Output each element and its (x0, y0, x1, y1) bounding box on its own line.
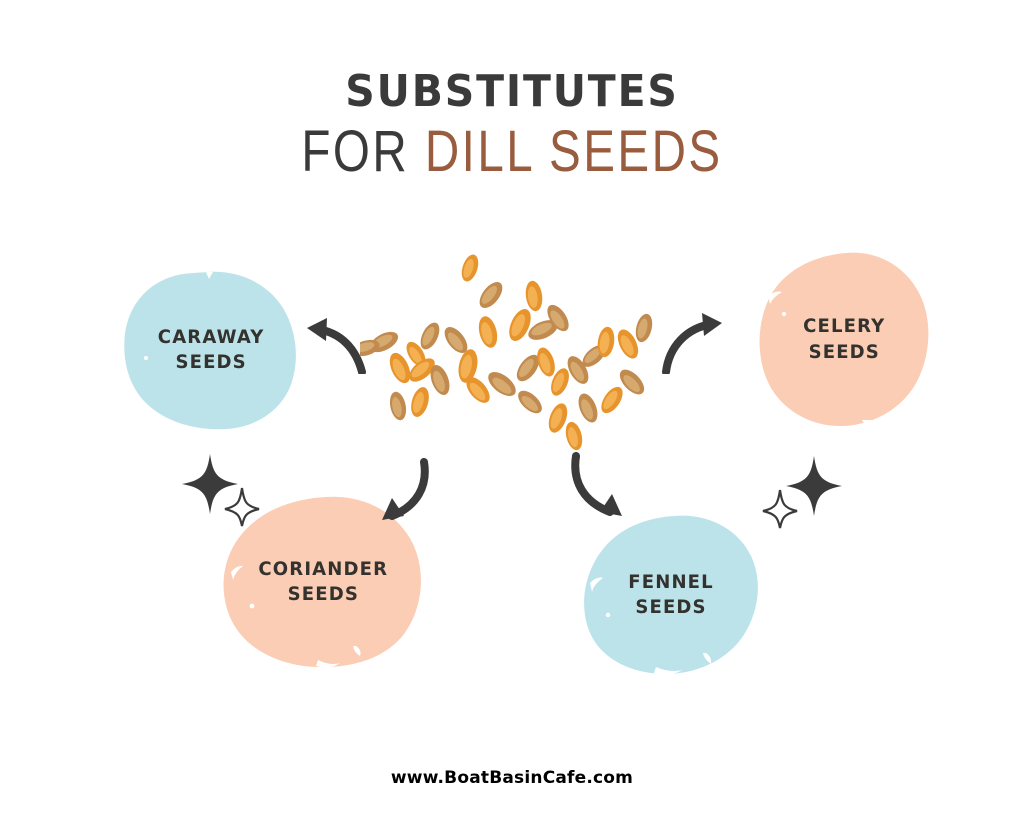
substitute-label-caraway: CARAWAY SEEDS (158, 325, 265, 375)
sparkles-right-icon (762, 452, 846, 530)
substitute-label-line1: CORIANDER (258, 558, 388, 580)
sparkle-filled-icon (786, 456, 842, 516)
arrow-right-icon (660, 312, 730, 374)
sparkles-left-icon (180, 452, 262, 528)
substitute-label-line2: SEEDS (287, 583, 358, 605)
substitute-label-line2: SEEDS (808, 341, 879, 363)
substitute-label-celery: CELERY SEEDS (803, 314, 885, 364)
substitute-label-line2: SEEDS (175, 351, 246, 373)
sparkle-outline-icon (763, 490, 797, 528)
substitute-label-line2: SEEDS (636, 596, 707, 618)
dill-seeds-graphic (360, 250, 670, 455)
substitute-blob-celery[interactable]: CELERY SEEDS (758, 252, 930, 427)
substitute-blob-fennel[interactable]: FENNEL SEEDS (584, 515, 759, 675)
title-line-2: FOR DILL SEEDS (92, 121, 932, 184)
title-accent: DILL SEEDS (425, 119, 723, 184)
title-line-1: SUBSTITUTES (36, 70, 988, 115)
substitute-blob-caraway[interactable]: CARAWAY SEEDS (122, 270, 300, 430)
substitute-label-coriander: CORIANDER SEEDS (258, 557, 388, 607)
sparkle-filled-icon (182, 454, 238, 514)
page-title: SUBSTITUTES FOR DILL SEEDS (0, 70, 1024, 184)
footer-website[interactable]: www.BoatBasinCafe.com (0, 768, 1024, 788)
substitute-label-line1: CARAWAY (158, 326, 265, 348)
sparkle-outline-icon (225, 488, 259, 526)
substitute-label-line1: CELERY (803, 315, 885, 337)
substitute-label-fennel: FENNEL SEEDS (629, 570, 715, 620)
substitute-label-line1: FENNEL (629, 571, 715, 593)
infographic-canvas: SUBSTITUTES FOR DILL SEEDS CARAWAY SEEDS… (0, 0, 1024, 819)
arrow-bottom-left-icon (366, 458, 434, 528)
title-prefix: FOR (301, 119, 424, 184)
arrow-left-icon (300, 316, 368, 374)
arrow-bottom-right-icon (566, 452, 638, 526)
